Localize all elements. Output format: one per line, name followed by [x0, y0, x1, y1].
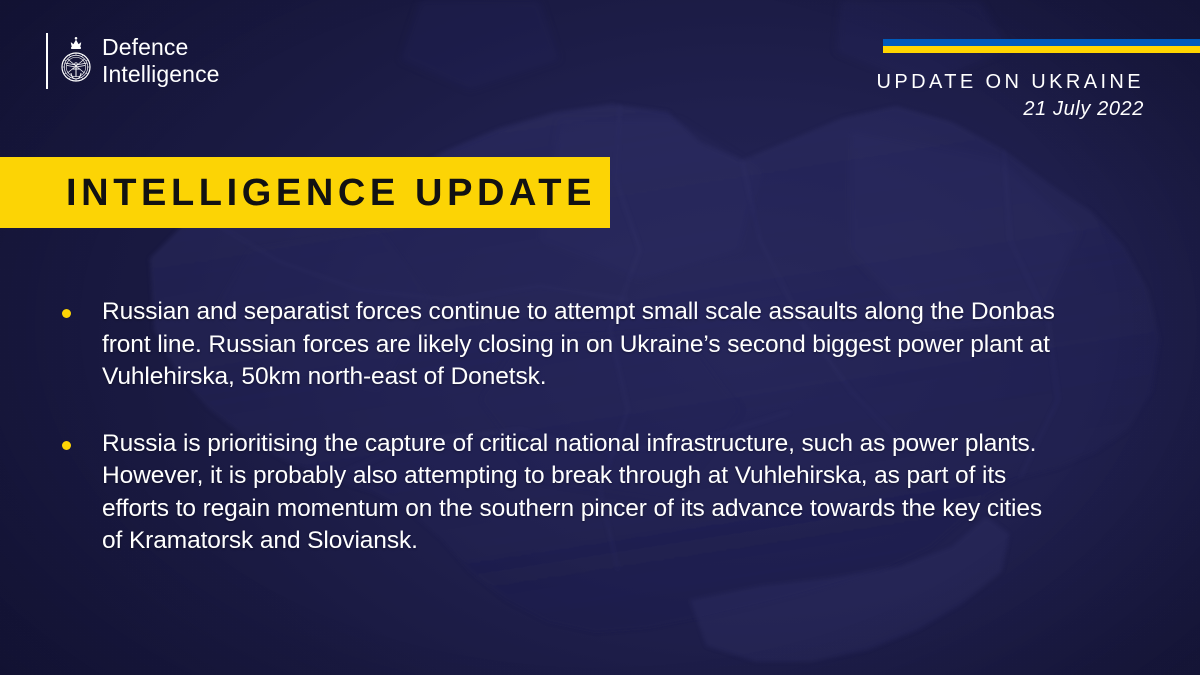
intelligence-update-slide: Defence Intelligence UPDATE ON UKRAINE 2… — [0, 0, 1200, 675]
flag-blue-band — [883, 39, 1200, 46]
intelligence-update-banner: INTELLIGENCE UPDATE — [0, 157, 610, 228]
brand-title: Defence Intelligence — [102, 34, 220, 88]
flag-yellow-band — [883, 46, 1200, 53]
update-header-block: UPDATE ON UKRAINE 21 July 2022 — [877, 70, 1144, 122]
update-title: UPDATE ON UKRAINE — [877, 70, 1144, 94]
ukraine-flag-bar-icon — [883, 39, 1200, 53]
list-item: Russian and separatist forces continue t… — [62, 296, 1062, 394]
brand-title-line1: Defence — [102, 34, 220, 61]
mod-defence-intelligence-crest-icon — [60, 34, 92, 88]
update-date: 21 July 2022 — [877, 96, 1144, 122]
bullet-dot-icon — [62, 441, 71, 450]
bullet-text: Russian and separatist forces continue t… — [102, 296, 1062, 394]
bullet-list: Russian and separatist forces continue t… — [62, 296, 1062, 558]
bullet-dot-icon — [62, 309, 71, 318]
brand-lockup: Defence Intelligence — [46, 32, 220, 90]
brand-title-line2: Intelligence — [102, 61, 220, 88]
bullet-text: Russia is prioritising the capture of cr… — [102, 428, 1062, 558]
banner-label: INTELLIGENCE UPDATE — [66, 174, 596, 212]
list-item: Russia is prioritising the capture of cr… — [62, 428, 1062, 558]
brand-divider-rule — [46, 33, 48, 89]
